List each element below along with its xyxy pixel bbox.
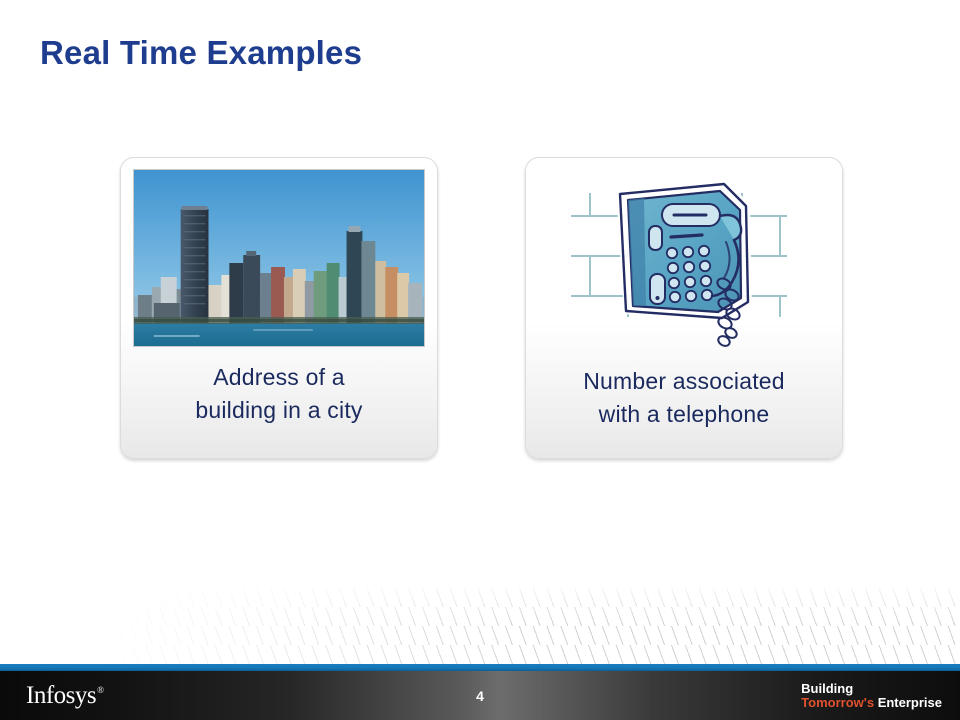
footer-blue-band bbox=[0, 664, 960, 671]
tagline-accent: Tomorrow's bbox=[801, 695, 874, 710]
decorative-tick-pattern bbox=[0, 588, 960, 666]
example-card-address: Address of a building in a city bbox=[120, 157, 438, 459]
card-caption-telephone: Number associated with a telephone bbox=[526, 365, 842, 430]
caption-line-1: Address of a bbox=[213, 364, 345, 390]
example-card-telephone: Number associated with a telephone bbox=[525, 157, 843, 459]
caption-line-2: building in a city bbox=[195, 397, 362, 423]
slide-canvas: Real Time Examples bbox=[0, 0, 960, 720]
tagline-line-2: Tomorrow's Enterprise bbox=[801, 696, 942, 710]
caption-line-1: Number associated bbox=[583, 368, 785, 394]
page-title: Real Time Examples bbox=[40, 34, 362, 72]
city-skyline-photo bbox=[133, 169, 425, 347]
tagline-rest: Enterprise bbox=[874, 695, 942, 710]
caption-line-2: with a telephone bbox=[599, 401, 770, 427]
footer-bar: Infosys® 4 Building Tomorrow's Enterpris… bbox=[0, 671, 960, 720]
infosys-tagline: Building Tomorrow's Enterprise bbox=[801, 681, 942, 709]
wall-telephone-illustration bbox=[554, 164, 814, 359]
card-caption-address: Address of a building in a city bbox=[121, 361, 437, 426]
tagline-line-1: Building bbox=[801, 681, 942, 695]
